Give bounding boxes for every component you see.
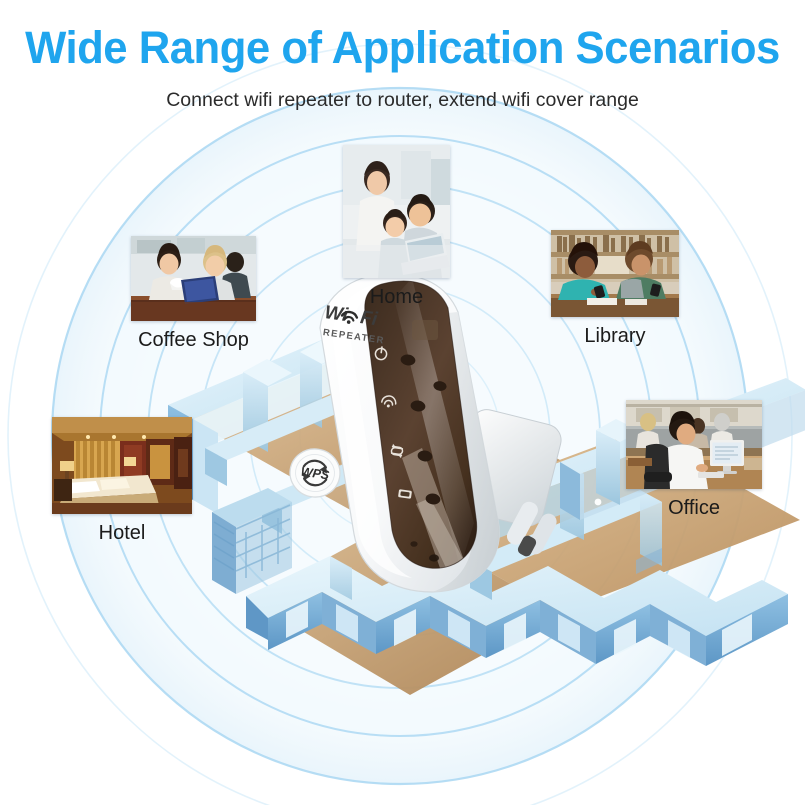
- scenario-label-hotel: Hotel: [52, 521, 192, 545]
- scenario-card-home[interactable]: Home: [343, 145, 450, 309]
- students-with-phones-bookshelves-photo: [551, 230, 679, 317]
- scenario-card-coffee-shop[interactable]: Coffee Shop: [131, 236, 256, 352]
- wps-button[interactable]: WPS: [287, 446, 343, 500]
- scenario-label-home: Home: [343, 285, 450, 309]
- header: Wide Range of Application Scenarios Conn…: [0, 0, 805, 125]
- scenario-card-library[interactable]: Library: [551, 230, 679, 348]
- panel-dot: [429, 554, 439, 561]
- two-women-with-tablet-photo: [131, 236, 256, 321]
- hotel-room-bed-photo: [52, 417, 192, 514]
- product-marketing-image: Wi Fi REPEATER WPS: [0, 0, 805, 805]
- wifi-repeater-device: Wi Fi REPEATER WPS: [262, 268, 572, 598]
- page-title: Wide Range of Application Scenarios: [12, 22, 793, 74]
- scenario-label-library: Library: [551, 324, 679, 348]
- family-with-laptop-photo: [343, 145, 450, 278]
- scenario-label-coffee-shop: Coffee Shop: [131, 328, 256, 352]
- office-cubicles-worker-photo: [626, 400, 762, 489]
- scenario-card-hotel[interactable]: Hotel: [52, 417, 192, 545]
- scenario-label-office: Office: [626, 496, 762, 520]
- scenario-card-office[interactable]: Office: [626, 400, 762, 520]
- page-subtitle: Connect wifi repeater to router, extend …: [0, 88, 805, 112]
- panel-dot: [410, 541, 417, 547]
